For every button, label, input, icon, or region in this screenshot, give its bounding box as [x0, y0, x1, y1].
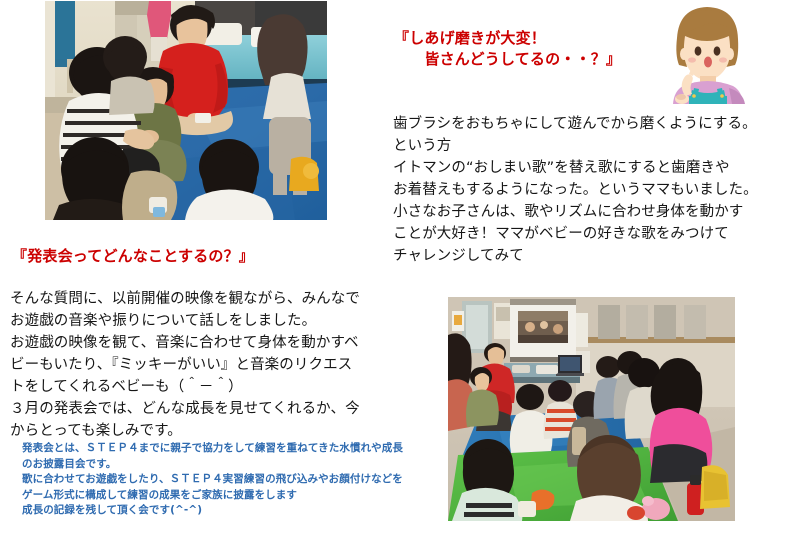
photo-top-left-image: [45, 1, 327, 220]
left-section-body: そんな質問に、以前開催の映像を観ながら、みんなで お遊戯の音楽や振りについて話し…: [10, 288, 410, 442]
photo-bottom-right-image: [448, 297, 735, 521]
photo-bottom-right: [448, 297, 735, 521]
right-section-heading: 『しあげ磨きが大変！ 皆さんどうしてるの・・？』: [394, 28, 774, 70]
left-section-heading: 『発表会ってどんなことするの？』: [12, 246, 372, 267]
left-section-note: 発表会とは、ＳＴＥＰ４までに親子で協力をして練習を重ねてきた水慣れや成長 のお披…: [22, 441, 442, 519]
right-section-body: 歯ブラシをおもちゃにして遊んでから磨くようにする。 という方 イトマンの“おしま…: [393, 113, 785, 267]
photo-top-left: [45, 1, 327, 220]
